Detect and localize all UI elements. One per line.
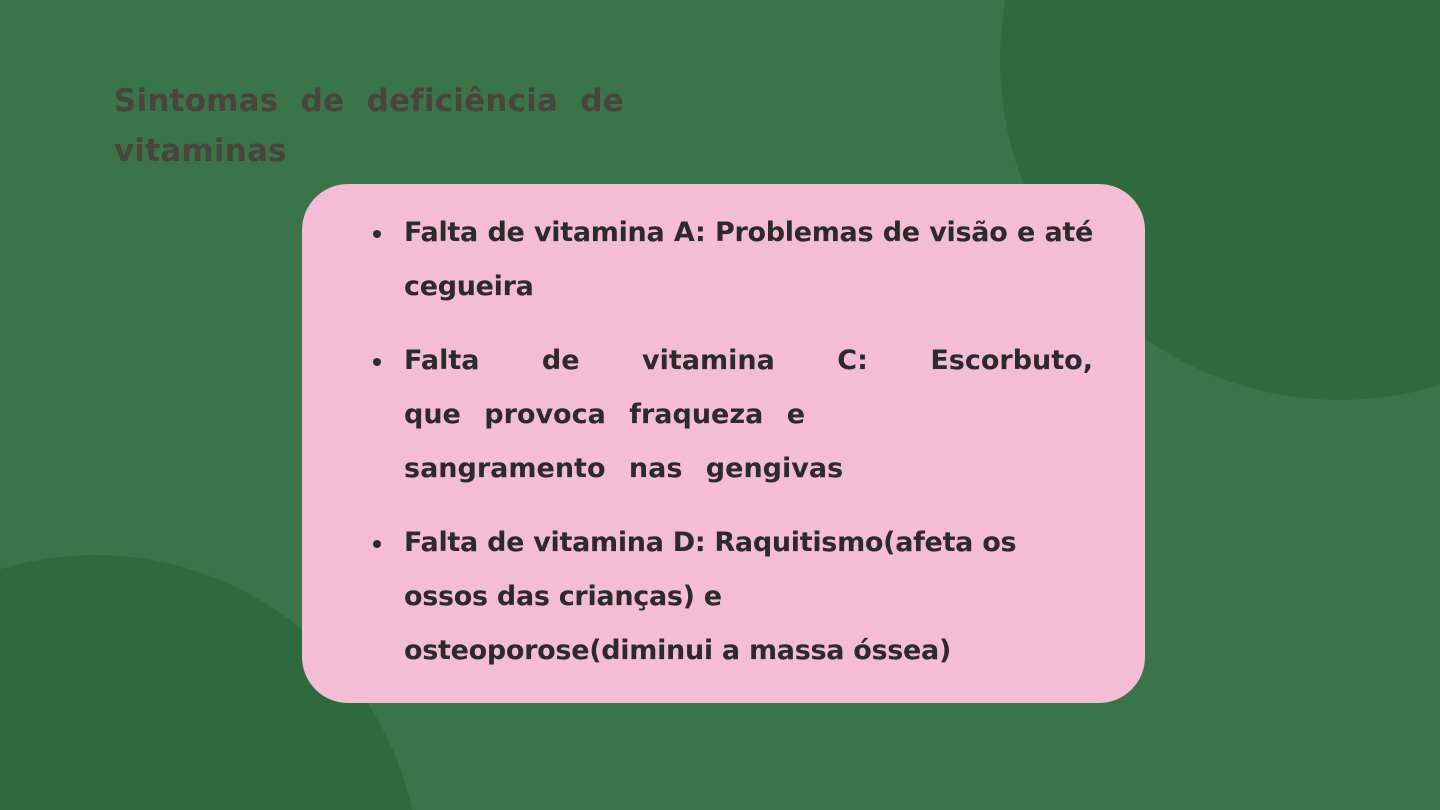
slide-canvas: Sintomas de deficiência de vitaminas Fal… xyxy=(0,0,1440,810)
bullet-text-vitamin-d-line1: Falta de vitamina D: Raquitismo(afeta os xyxy=(404,516,1093,570)
list-item: Falta de vitamina C: Escorbuto, que prov… xyxy=(370,334,1093,496)
bullet-text-vitamin-c-line2: que provoca fraqueza e xyxy=(404,388,1093,442)
bullet-text-vitamin-c-line1: Falta de vitamina C: Escorbuto, xyxy=(404,334,1093,388)
bullet-text-vitamin-a: Falta de vitamina A: Problemas de visão … xyxy=(404,217,1093,302)
bullet-text-vitamin-c-line3: sangramento nas gengivas xyxy=(404,442,1093,496)
list-item: Falta de vitamina D: Raquitismo(afeta os… xyxy=(370,516,1093,678)
bullet-text-vitamin-d-line3: osteoporose(diminui a massa óssea) xyxy=(404,624,1093,678)
list-item: Falta de vitamina A: Problemas de visão … xyxy=(370,206,1093,314)
content-card: Falta de vitamina A: Problemas de visão … xyxy=(302,184,1145,703)
bullet-list: Falta de vitamina A: Problemas de visão … xyxy=(370,206,1093,678)
bullet-text-vitamin-d-line2: ossos das crianças) e xyxy=(404,570,1093,624)
